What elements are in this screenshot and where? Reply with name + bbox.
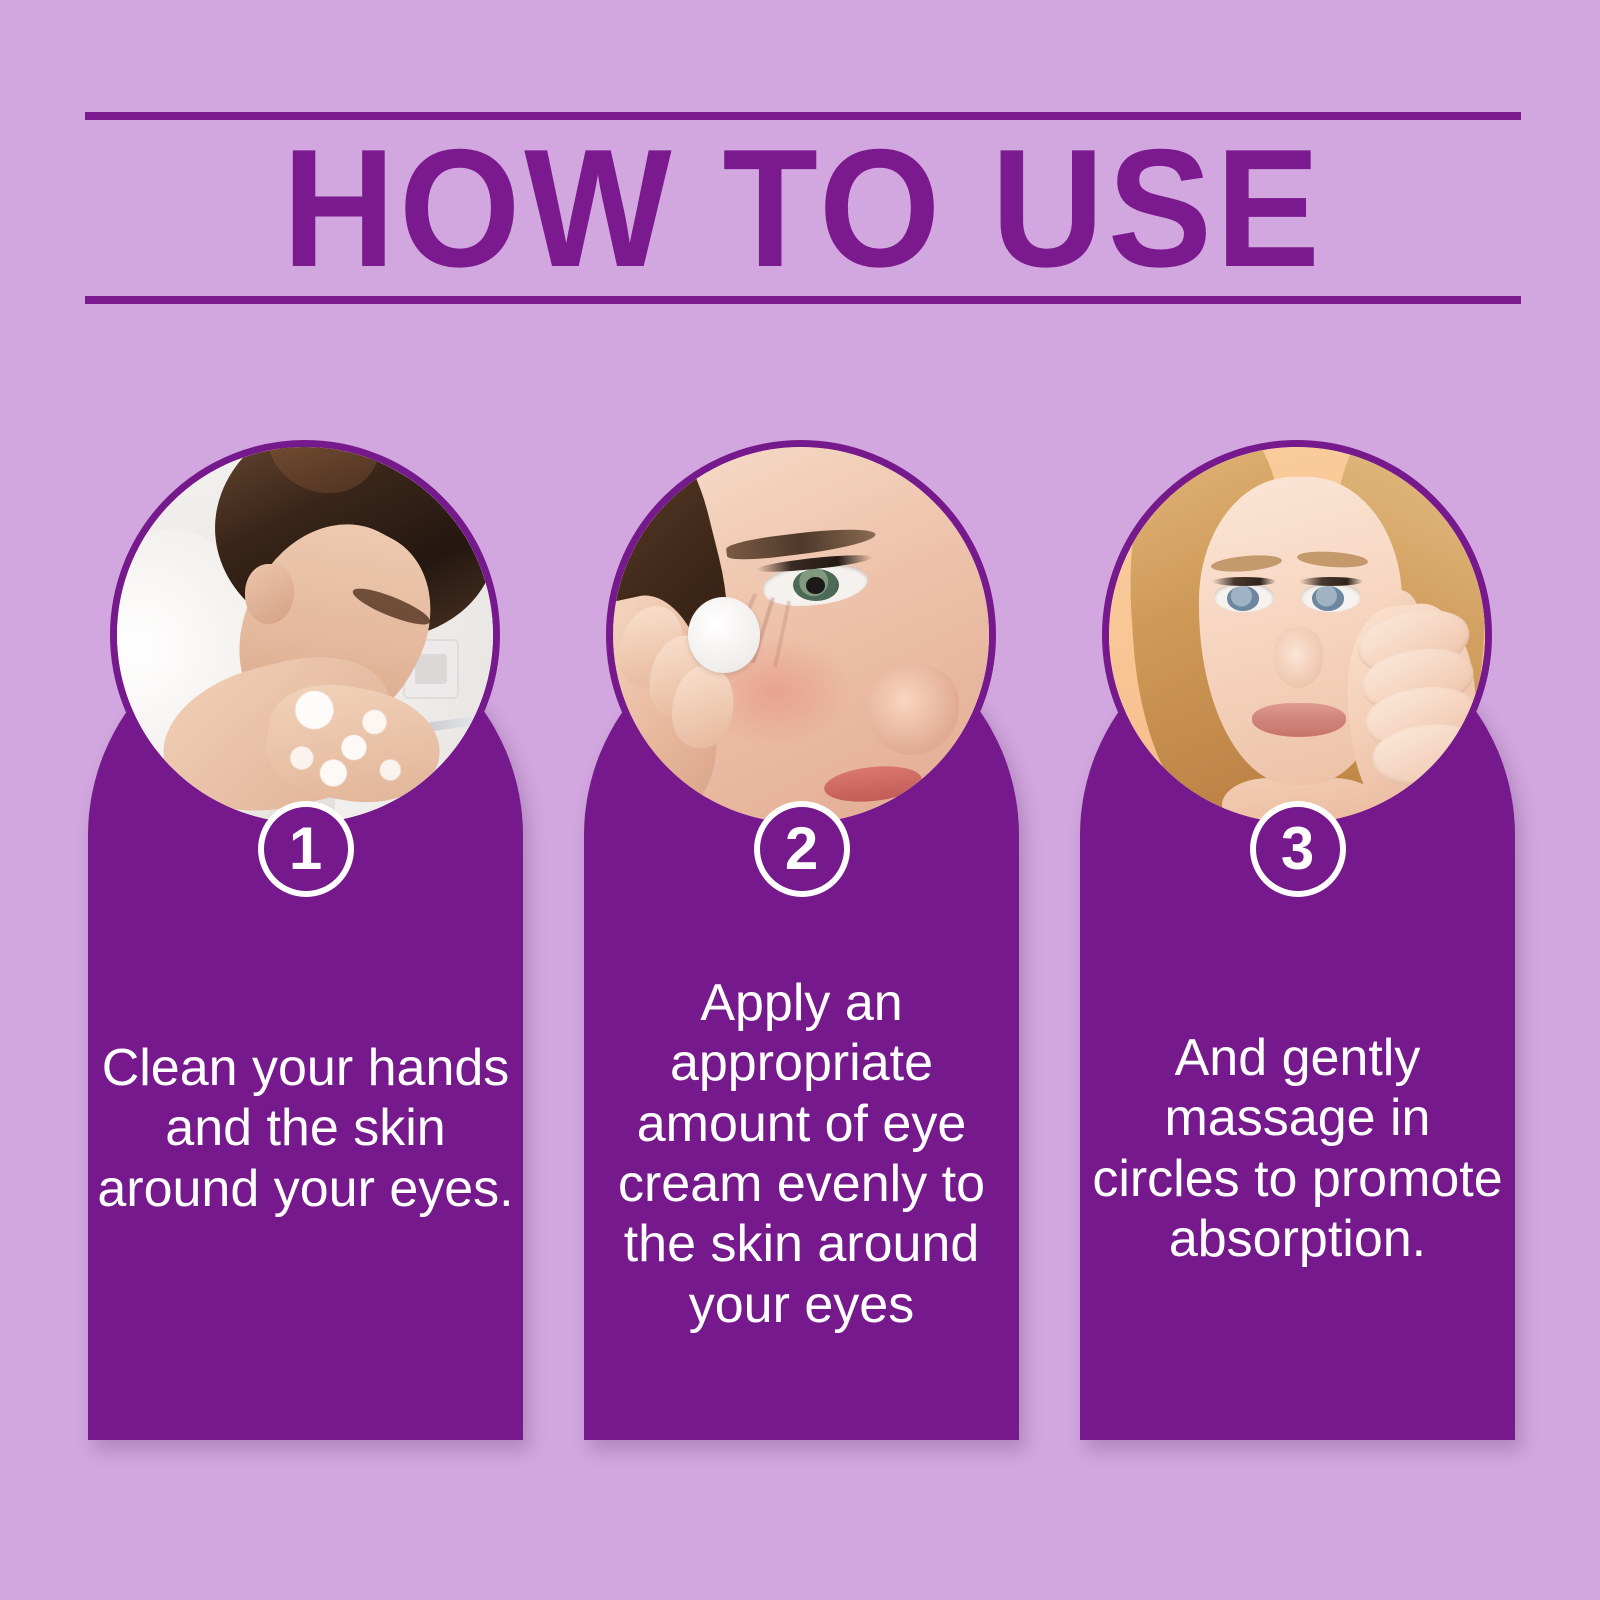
ear-shape [245, 564, 294, 624]
water-splash [267, 665, 425, 815]
step-photo-1 [110, 440, 500, 830]
cotton-pad [688, 597, 759, 672]
washing-face-illustration [117, 447, 493, 823]
lips-shape [1252, 703, 1346, 737]
step-caption-1: Clean your hands and the skin around you… [96, 1038, 515, 1219]
eyelash-right [1299, 577, 1363, 586]
step-card-2: 2 Apply an appropriate amount of eye cre… [584, 440, 1019, 1440]
applying-cream-illustration [613, 447, 989, 823]
step-caption-3: And gently massage in circles to promote… [1088, 1028, 1507, 1269]
step-card-1: 1 Clean your hands and the skin around y… [88, 440, 523, 1440]
step-card-3: 3 And gently massage in circles to promo… [1080, 440, 1515, 1440]
iris-left [1227, 586, 1259, 610]
pupil-shape [806, 577, 825, 594]
step-caption-2: Apply an appropriate amount of eye cream… [592, 973, 1011, 1335]
massaging-face-illustration [1109, 447, 1485, 823]
step-photo-3 [1102, 440, 1492, 830]
nose-shape [1274, 627, 1323, 687]
eyelash-left [1212, 577, 1276, 586]
step-badge-2: 2 [754, 801, 850, 897]
iris-right [1312, 586, 1344, 610]
how-to-use-infographic: HOW TO USE [0, 0, 1600, 1600]
steps-row: 1 Clean your hands and the skin around y… [0, 0, 1600, 1600]
step-badge-1: 1 [258, 801, 354, 897]
step-badge-3: 3 [1250, 801, 1346, 897]
step-photo-2 [606, 440, 996, 830]
